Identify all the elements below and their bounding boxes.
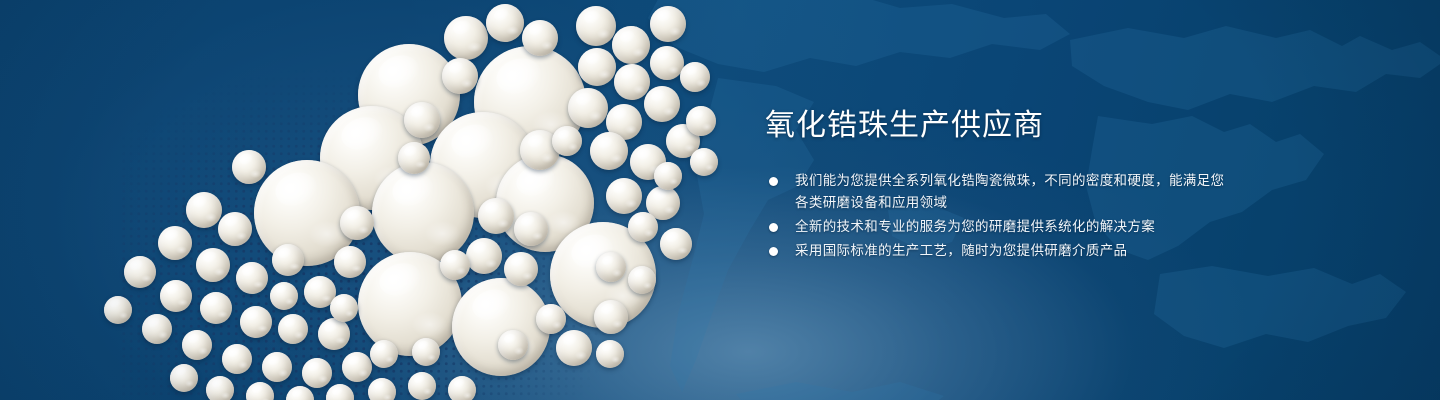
bullet-dot-icon xyxy=(769,223,778,232)
banner-content: 氧化锆珠生产供应商 我们能为您提供全系列氧化锆陶瓷微珠，不同的密度和硬度，能满足… xyxy=(765,0,1405,400)
bullet-dot-icon xyxy=(769,177,778,186)
hero-banner: 氧化锆珠生产供应商 我们能为您提供全系列氧化锆陶瓷微珠，不同的密度和硬度，能满足… xyxy=(0,0,1440,400)
list-item-label: 我们能为您提供全系列氧化锆陶瓷微珠，不同的密度和硬度，能满足您各类研磨设备和应用… xyxy=(795,170,1237,214)
list-item: 全新的技术和专业的服务为您的研磨提供系统化的解决方案 xyxy=(767,216,1237,238)
list-item: 我们能为您提供全系列氧化锆陶瓷微珠，不同的密度和硬度，能满足您各类研磨设备和应用… xyxy=(767,170,1237,214)
list-item: 采用国际标准的生产工艺，随时为您提供研磨介质产品 xyxy=(767,240,1237,262)
list-item-label: 全新的技术和专业的服务为您的研磨提供系统化的解决方案 xyxy=(795,216,1237,238)
banner-feature-list: 我们能为您提供全系列氧化锆陶瓷微珠，不同的密度和硬度，能满足您各类研磨设备和应用… xyxy=(767,170,1237,264)
banner-headline: 氧化锆珠生产供应商 xyxy=(765,109,1044,143)
list-item-label: 采用国际标准的生产工艺，随时为您提供研磨介质产品 xyxy=(795,240,1237,262)
bullet-dot-icon xyxy=(769,247,778,256)
